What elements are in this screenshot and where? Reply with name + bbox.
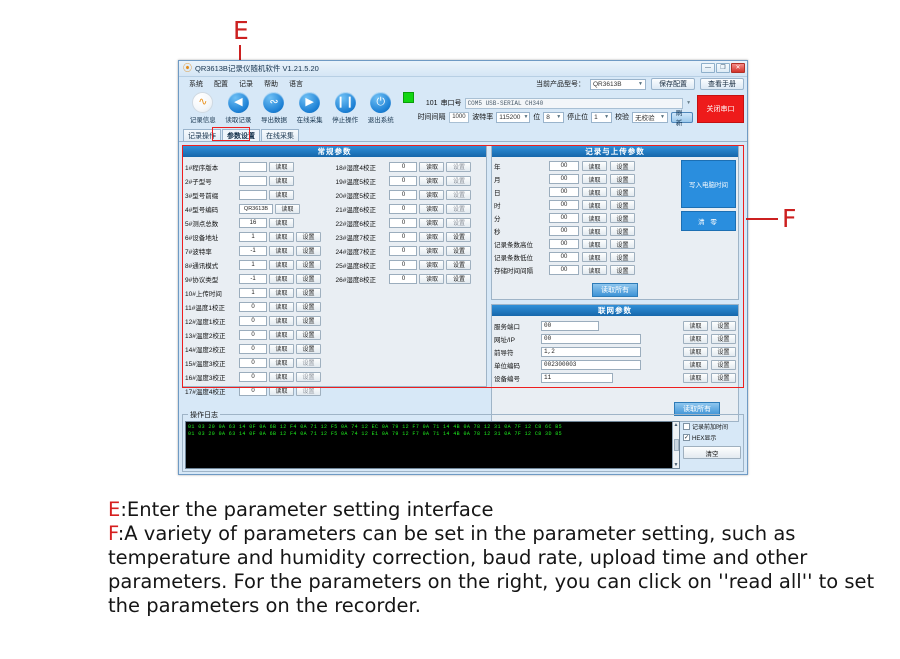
param-read-button[interactable]: 读取	[269, 176, 294, 186]
record-rows: 年 00 读取 设置 月 00 读取 设置	[494, 160, 678, 276]
window-title: QR3613B记录仪随机软件 V1.21.5.20	[195, 63, 319, 74]
menu-item-record[interactable]: 记录	[239, 79, 253, 89]
param-label: 21#温度6校正	[335, 204, 387, 214]
param-set-button[interactable]: 设置	[296, 344, 321, 354]
param-label: 3#型号前缀	[185, 190, 237, 200]
hex-display-checkbox[interactable]: ✓	[683, 434, 690, 441]
param-row: 21#温度6校正 0 读取 设置	[335, 202, 484, 215]
record-read-button[interactable]: 读取	[582, 174, 607, 184]
param-read-button[interactable]: 读取	[269, 288, 294, 298]
param-input[interactable]: 0	[239, 316, 267, 326]
tab-parameter-setting[interactable]: 参数设置	[222, 129, 260, 141]
param-label: 20#湿度5校正	[335, 190, 387, 200]
network-set-button[interactable]: 设置	[711, 373, 736, 383]
param-read-button[interactable]: 读取	[269, 302, 294, 312]
param-label: 18#湿度4校正	[335, 162, 387, 172]
record-row: 月 00 读取 设置	[494, 173, 678, 185]
window-controls: — ❐ ✕	[701, 63, 745, 73]
param-set-button[interactable]: 设置	[296, 316, 321, 326]
record-input[interactable]: 00	[549, 265, 579, 275]
param-row: 20#湿度5校正 0 读取 设置	[335, 188, 484, 201]
caption-line-e: E:Enter the parameter setting interface	[108, 498, 898, 522]
network-set-button[interactable]: 设置	[711, 334, 736, 344]
record-input[interactable]: 00	[549, 161, 579, 171]
record-read-button[interactable]: 读取	[582, 187, 607, 197]
product-model-value: QR3613B	[593, 81, 622, 88]
param-row: 22#湿度6校正 0 读取 设置	[335, 216, 484, 229]
param-set-button[interactable]: 设置	[446, 162, 471, 172]
record-row: 日 00 读取 设置	[494, 186, 678, 198]
record-row: 记录条数高位 00 读取 设置	[494, 238, 678, 250]
network-input[interactable]: 11	[541, 373, 613, 383]
param-row: 5#测点总数 16 读取 设置	[185, 216, 335, 229]
record-set-button[interactable]: 设置	[610, 213, 635, 223]
play-icon: ▶	[299, 92, 320, 113]
param-input[interactable]: 16	[239, 218, 267, 228]
general-column-right: 18#湿度4校正 0 读取 设置 19#温度5校正 0 读取 设置	[335, 160, 484, 397]
param-label: 6#设备地址	[185, 232, 237, 242]
param-input[interactable]: 0	[389, 176, 417, 186]
stopbit-label: 停止位	[567, 112, 588, 122]
record-input[interactable]: 00	[549, 213, 579, 223]
param-input[interactable]: QR3613B	[239, 204, 273, 214]
scrollbar-thumb[interactable]	[674, 439, 679, 451]
port-select[interactable]: COM5 USB-SERIAL CH340	[465, 98, 684, 109]
toolbar-label: 在线采集	[297, 114, 323, 124]
close-port-button[interactable]: 关闭串口	[697, 95, 744, 123]
record-row: 时 00 读取 设置	[494, 199, 678, 211]
param-set-button[interactable]: 设置	[446, 260, 471, 270]
log-scrollbar[interactable]: ▲ ▼	[672, 422, 679, 468]
parity-value: 无校验	[635, 112, 655, 122]
record-read-button[interactable]: 读取	[582, 226, 607, 236]
param-label: 17#温度4校正	[185, 386, 237, 396]
record-row: 记录条数低位 00 读取 设置	[494, 251, 678, 263]
write-pc-time-button[interactable]: 写入电脑时间	[681, 160, 736, 208]
param-input[interactable]: 0	[389, 218, 417, 228]
param-input[interactable]: 0	[389, 204, 417, 214]
record-set-button[interactable]: 设置	[610, 252, 635, 262]
operation-log-group: 操作日志 01 03 20 0A 63 14 0F 0A 6B 12 F4 0A…	[182, 414, 744, 472]
spiral-logo-icon: ⦿	[183, 64, 192, 73]
stopbit-select[interactable]: 1 ▼	[591, 112, 612, 123]
param-read-button[interactable]: 读取	[419, 176, 444, 186]
record-input[interactable]: 00	[549, 187, 579, 197]
record-label: 记录条数高位	[494, 239, 546, 249]
caption-text-f: :A variety of parameters can be set in t…	[108, 522, 874, 617]
network-parameters-panel: 联网参数 服务端口 00 读取 设置 网址/IP 00	[491, 304, 739, 422]
general-parameters-panel: 常规参数 1#程序版本 读取 设置 2#子型号	[182, 145, 487, 387]
param-row: 12#湿度1校正 0 读取 设置	[185, 314, 335, 327]
menu-item-config[interactable]: 配置	[214, 79, 228, 89]
record-row: 分 00 读取 设置	[494, 212, 678, 224]
param-label: 14#湿度2校正	[185, 344, 237, 354]
param-input[interactable]	[239, 162, 267, 172]
param-label: 25#温度8校正	[335, 260, 387, 270]
param-row: 2#子型号 读取 设置	[185, 174, 335, 187]
log-line: 01 03 20 0A 63 14 0F 0A 6B 12 F4 0A 71 1…	[188, 424, 678, 431]
bits-label: 位	[533, 112, 540, 122]
param-row: 7#波特率 -1 读取 设置	[185, 244, 335, 257]
toolbar: ∿ 记录信息 ◀ 读取记录 ∾ 导出数据 ▶ 在线采集 ❙❙ 停止操作 ⏻ 退出…	[179, 91, 747, 129]
log-console[interactable]: 01 03 20 0A 63 14 0F 0A 6B 12 F4 0A 71 1…	[185, 421, 680, 469]
param-set-button[interactable]: 设置	[296, 330, 321, 340]
record-upload-panel: 记录与上传参数 年 00 读取 设置 月 00	[491, 145, 739, 300]
param-label: 16#湿度3校正	[185, 372, 237, 382]
record-input[interactable]: 00	[549, 174, 579, 184]
timestamp-checkbox-label: 记录前加时间	[692, 422, 728, 431]
param-read-button[interactable]: 读取	[269, 190, 294, 200]
param-read-button[interactable]: 读取	[419, 232, 444, 242]
general-panel-title: 常规参数	[183, 146, 486, 157]
arrow-down-icon[interactable]: ▼	[674, 462, 679, 468]
record-input[interactable]: 00	[549, 239, 579, 249]
chevron-down-icon: ▼	[660, 114, 665, 120]
interval-input[interactable]: 1000	[449, 112, 470, 123]
param-row: 8#通讯模式 1 读取 设置	[185, 258, 335, 271]
network-panel-title: 联网参数	[492, 305, 738, 316]
hex-display-checkbox-label: HEX显示	[692, 433, 716, 442]
operation-log-title: 操作日志	[188, 410, 220, 420]
network-read-button[interactable]: 读取	[683, 321, 708, 331]
checkbox-row-hex[interactable]: ✓ HEX显示	[683, 433, 741, 442]
param-label: 4#型号编码	[185, 204, 237, 214]
param-read-button[interactable]: 读取	[419, 190, 444, 200]
param-read-button[interactable]: 读取	[419, 204, 444, 214]
param-set-button[interactable]: 设置	[446, 204, 471, 214]
record-row: 年 00 读取 设置	[494, 160, 678, 172]
toolbar-button-online-collect[interactable]: ▶ 在线采集	[292, 92, 328, 124]
param-set-button[interactable]: 设置	[296, 372, 321, 382]
network-read-button[interactable]: 读取	[683, 334, 708, 344]
annotation-marker-f: F	[782, 206, 796, 231]
record-read-button[interactable]: 读取	[582, 200, 607, 210]
right-panel-column: 记录与上传参数 年 00 读取 设置 月 00	[491, 145, 739, 387]
param-row: 14#湿度2校正 0 读取 设置	[185, 342, 335, 355]
arrow-up-icon[interactable]: ▲	[674, 422, 679, 428]
param-read-button[interactable]: 读取	[269, 218, 294, 228]
record-set-button[interactable]: 设置	[610, 200, 635, 210]
param-input[interactable]: 1	[239, 288, 267, 298]
record-set-button[interactable]: 设置	[610, 187, 635, 197]
param-read-button[interactable]: 读取	[269, 316, 294, 326]
record-row: 秒 00 读取 设置	[494, 225, 678, 237]
clear-log-button[interactable]: 清空	[683, 446, 741, 459]
param-row: 18#湿度4校正 0 读取 设置	[335, 160, 484, 173]
clear-zero-button[interactable]: 清 零	[681, 211, 736, 231]
general-column-left: 1#程序版本 读取 设置 2#子型号 读取 设置	[185, 160, 335, 397]
record-set-button[interactable]: 设置	[610, 265, 635, 275]
network-set-button[interactable]: 设置	[711, 360, 736, 370]
serial-row-baud: 时间间隔 1000 波特率 115200 ▼ 位 8 ▼ 停止位 1 ▼ 校验	[418, 110, 694, 124]
network-row: 前导符 1,2 读取 设置	[494, 345, 736, 358]
record-label: 月	[494, 174, 546, 184]
param-input[interactable]: 1	[239, 232, 267, 242]
product-model-label: 当前产品型号：	[536, 79, 585, 89]
panel-row: 常规参数 1#程序版本 读取 设置 2#子型号	[182, 145, 744, 387]
param-row: 24#湿度7校正 0 读取 设置	[335, 244, 484, 257]
serial-settings-group: 101 串口号 COM5 USB-SERIAL CH340 ▼ 时间间隔 100…	[418, 92, 694, 124]
record-label: 年	[494, 161, 546, 171]
param-read-button[interactable]: 读取	[269, 358, 294, 368]
param-input[interactable]: 0	[389, 260, 417, 270]
param-read-button[interactable]: 读取	[269, 274, 294, 284]
param-input[interactable]: 0	[239, 372, 267, 382]
parity-select[interactable]: 无校验 ▼	[632, 112, 668, 123]
param-label: 23#温度7校正	[335, 232, 387, 242]
toolbar-button-export-data[interactable]: ∾ 导出数据	[256, 92, 292, 124]
param-read-button[interactable]: 读取	[269, 372, 294, 382]
network-panel-body: 服务端口 00 读取 设置 网址/IP 00 读取 设置	[492, 316, 738, 421]
chevron-down-icon: ▼	[686, 100, 691, 106]
chevron-down-icon: ▼	[556, 114, 561, 120]
param-read-button[interactable]: 读取	[269, 386, 294, 396]
param-input[interactable]: 0	[239, 344, 267, 354]
param-read-button[interactable]: 读取	[419, 260, 444, 270]
param-input[interactable]: -1	[239, 274, 267, 284]
param-label: 8#通讯模式	[185, 260, 237, 270]
network-input[interactable]: 00	[541, 321, 599, 331]
close-button[interactable]: ✕	[731, 63, 745, 73]
param-label: 5#测点总数	[185, 218, 237, 228]
port-label: 串口号	[441, 98, 462, 108]
network-input[interactable]: 002300003	[541, 360, 641, 370]
toolbar-button-read-records[interactable]: ◀ 读取记录	[221, 92, 257, 124]
param-input[interactable]: 0	[239, 358, 267, 368]
network-read-button[interactable]: 读取	[683, 360, 708, 370]
record-read-button[interactable]: 读取	[582, 239, 607, 249]
param-row: 26#湿度8校正 0 读取 设置	[335, 272, 484, 285]
param-label: 15#温度3校正	[185, 358, 237, 368]
param-input[interactable]: 1	[239, 260, 267, 270]
network-readall-wrap: 读取所有	[494, 384, 736, 418]
param-label: 10#上传时间	[185, 288, 237, 298]
param-read-button[interactable]: 读取	[275, 204, 300, 214]
power-icon: ⏻	[370, 92, 391, 113]
param-read-button[interactable]: 读取	[419, 162, 444, 172]
param-read-button[interactable]: 读取	[269, 162, 294, 172]
toolbar-button-record-info[interactable]: ∿ 记录信息	[185, 92, 221, 124]
network-row: 网址/IP 00 读取 设置	[494, 332, 736, 345]
record-read-button[interactable]: 读取	[582, 213, 607, 223]
param-set-button[interactable]: 设置	[296, 358, 321, 368]
param-input[interactable]: 0	[389, 190, 417, 200]
param-read-button[interactable]: 读取	[269, 246, 294, 256]
baud-label: 波特率	[472, 112, 493, 122]
param-read-button[interactable]: 读取	[269, 330, 294, 340]
record-set-button[interactable]: 设置	[610, 174, 635, 184]
param-read-button[interactable]: 读取	[269, 344, 294, 354]
annotation-leader-line-f	[746, 218, 778, 220]
param-input[interactable]: 0	[239, 330, 267, 340]
record-panel-body: 年 00 读取 设置 月 00 读取 设置	[492, 157, 738, 279]
param-set-button[interactable]: 设置	[446, 218, 471, 228]
param-label: 24#湿度7校正	[335, 246, 387, 256]
share-arrow-icon: ◀	[228, 92, 249, 113]
param-row: 10#上传时间 1 读取 设置	[185, 286, 335, 299]
caption-key-f: F	[108, 522, 118, 545]
bits-value: 8	[546, 114, 550, 121]
network-input[interactable]: 1,2	[541, 347, 641, 357]
log-line: 01 03 20 0A 63 14 0F 0A 6B 12 F4 0A 71 1…	[188, 431, 678, 438]
param-input[interactable]	[239, 190, 267, 200]
param-set-button[interactable]: 设置	[446, 246, 471, 256]
baud-select[interactable]: 115200 ▼	[496, 112, 530, 123]
param-set-button[interactable]: 设置	[446, 176, 471, 186]
param-label: 7#波特率	[185, 246, 237, 256]
param-set-button[interactable]: 设置	[296, 288, 321, 298]
header-right-group: 当前产品型号： QR3613B ▼ 保存配置 查看手册	[536, 78, 744, 90]
interval-count: 101	[418, 100, 438, 107]
network-read-button[interactable]: 读取	[683, 347, 708, 357]
param-row: 9#协议类型 -1 读取 设置	[185, 272, 335, 285]
chevron-down-icon: ▼	[638, 81, 643, 87]
param-row: 16#湿度3校正 0 读取 设置	[185, 370, 335, 383]
record-set-button[interactable]: 设置	[610, 226, 635, 236]
param-read-button[interactable]: 读取	[269, 260, 294, 270]
network-set-button[interactable]: 设置	[711, 347, 736, 357]
param-set-button[interactable]: 设置	[296, 302, 321, 312]
baud-value: 115200	[499, 114, 520, 121]
view-manual-button[interactable]: 查看手册	[700, 78, 744, 90]
param-read-button[interactable]: 读取	[419, 246, 444, 256]
record-label: 时	[494, 200, 546, 210]
param-row: 11#温度1校正 0 读取 设置	[185, 300, 335, 313]
param-input[interactable]: 0	[239, 302, 267, 312]
param-label: 26#湿度8校正	[335, 274, 387, 284]
record-side-buttons: 写入电脑时间 清 零	[678, 160, 736, 276]
caption-key-e: E	[108, 498, 120, 521]
maximize-button[interactable]: ❐	[716, 63, 730, 73]
param-label: 12#湿度1校正	[185, 316, 237, 326]
network-row: 设备编号 11 读取 设置	[494, 371, 736, 384]
record-read-button[interactable]: 读取	[582, 161, 607, 171]
param-label: 11#温度1校正	[185, 302, 237, 312]
param-label: 2#子型号	[185, 176, 237, 186]
param-label: 19#温度5校正	[335, 176, 387, 186]
param-label: 13#温度2校正	[185, 330, 237, 340]
param-input[interactable]: 0	[239, 386, 267, 396]
param-input[interactable]: 0	[389, 162, 417, 172]
port-value: COM5 USB-SERIAL CH340	[468, 100, 544, 107]
param-row: 19#温度5校正 0 读取 设置	[335, 174, 484, 187]
param-row: 3#型号前缀 读取 设置	[185, 188, 335, 201]
chevron-down-icon: ▼	[604, 114, 609, 120]
param-set-button[interactable]: 设置	[296, 232, 321, 242]
param-row: 13#温度2校正 0 读取 设置	[185, 328, 335, 341]
record-set-button[interactable]: 设置	[610, 239, 635, 249]
param-row: 23#温度7校正 0 读取 设置	[335, 230, 484, 243]
general-panel-body: 1#程序版本 读取 设置 2#子型号 读取 设置	[183, 157, 486, 400]
param-input[interactable]	[239, 176, 267, 186]
network-row: 单位编码 002300003 读取 设置	[494, 358, 736, 371]
checkbox-row-timestamp[interactable]: 记录前加时间	[683, 422, 741, 431]
record-label: 记录条数低位	[494, 252, 546, 262]
param-input[interactable]: 0	[389, 246, 417, 256]
parity-label: 校验	[615, 112, 629, 122]
menu-item-help[interactable]: 帮助	[264, 79, 278, 89]
param-label: 22#湿度6校正	[335, 218, 387, 228]
record-label: 分	[494, 213, 546, 223]
param-row: 25#温度8校正 0 读取 设置	[335, 258, 484, 271]
param-input[interactable]: -1	[239, 246, 267, 256]
serial-row-port: 101 串口号 COM5 USB-SERIAL CH340 ▼	[418, 96, 694, 110]
refresh-button[interactable]: 刷新	[671, 112, 693, 123]
record-set-button[interactable]: 设置	[610, 161, 635, 171]
param-set-button[interactable]: 设置	[446, 274, 471, 284]
network-set-button[interactable]: 设置	[711, 321, 736, 331]
record-read-button[interactable]: 读取	[582, 252, 607, 262]
menu-item-language[interactable]: 语言	[289, 79, 303, 89]
param-set-button[interactable]: 设置	[446, 232, 471, 242]
network-row: 服务端口 00 读取 设置	[494, 319, 736, 332]
param-input[interactable]: 0	[389, 274, 417, 284]
caption-text-e: :Enter the parameter setting interface	[120, 498, 493, 521]
record-input[interactable]: 00	[549, 226, 579, 236]
param-set-button[interactable]: 设置	[296, 260, 321, 270]
network-label: 设备编号	[494, 373, 538, 383]
toolbar-button-exit[interactable]: ⏻ 退出系统	[363, 92, 399, 124]
param-read-button[interactable]: 读取	[269, 232, 294, 242]
connection-status-led	[403, 92, 414, 103]
title-bar: ⦿ QR3613B记录仪随机软件 V1.21.5.20 — ❐ ✕	[179, 61, 747, 77]
param-row: 15#温度3校正 0 读取 设置	[185, 356, 335, 369]
param-input[interactable]: 0	[389, 232, 417, 242]
caption-line-f: F:A variety of parameters can be set in …	[108, 522, 898, 618]
wave-record-icon: ∿	[192, 92, 213, 113]
record-row: 存储时间间隔 00 读取 设置	[494, 264, 678, 276]
network-label: 服务端口	[494, 321, 538, 331]
param-read-button[interactable]: 读取	[419, 274, 444, 284]
tab-strip: 记录操作 参数设置 在线采集	[179, 129, 747, 142]
product-model-select[interactable]: QR3613B ▼	[590, 79, 646, 90]
save-config-button[interactable]: 保存配置	[651, 78, 695, 90]
network-read-button[interactable]: 读取	[683, 373, 708, 383]
annotation-marker-e: E	[233, 18, 249, 43]
param-label: 9#协议类型	[185, 274, 237, 284]
application-window: ⦿ QR3613B记录仪随机软件 V1.21.5.20 — ❐ ✕ 系统 配置 …	[178, 60, 748, 475]
param-set-button[interactable]: 设置	[296, 386, 321, 396]
param-row: 1#程序版本 读取 设置	[185, 160, 335, 173]
record-input[interactable]: 00	[549, 200, 579, 210]
menu-bar: 系统 配置 记录 帮助 语言 当前产品型号： QR3613B ▼ 保存配置 查看…	[179, 77, 747, 91]
param-read-button[interactable]: 读取	[419, 218, 444, 228]
param-row: 17#温度4校正 0 读取 设置	[185, 384, 335, 397]
menu-item-system[interactable]: 系统	[189, 79, 203, 89]
tab-record-operation[interactable]: 记录操作	[183, 129, 221, 141]
record-panel-title: 记录与上传参数	[492, 146, 738, 157]
record-read-all-button[interactable]: 读取所有	[592, 283, 638, 297]
network-label: 前导符	[494, 347, 538, 357]
minimize-button[interactable]: —	[701, 63, 715, 73]
waveform-icon: ∾	[263, 92, 284, 113]
record-input[interactable]: 00	[549, 252, 579, 262]
param-set-button[interactable]: 设置	[296, 246, 321, 256]
chevron-down-icon: ▼	[523, 114, 528, 120]
param-set-button[interactable]: 设置	[446, 190, 471, 200]
toolbar-label: 读取记录	[225, 114, 251, 124]
databits-select[interactable]: 8 ▼	[543, 112, 564, 123]
record-label: 存储时间间隔	[494, 265, 546, 275]
param-set-button[interactable]: 设置	[296, 274, 321, 284]
record-read-button[interactable]: 读取	[582, 265, 607, 275]
toolbar-button-stop[interactable]: ❙❙ 停止操作	[327, 92, 363, 124]
network-input[interactable]: 00	[541, 334, 641, 344]
timestamp-checkbox[interactable]	[683, 423, 690, 430]
network-label: 单位编码	[494, 360, 538, 370]
interval-label: 时间间隔	[418, 112, 446, 122]
tab-online-collect[interactable]: 在线采集	[261, 129, 299, 141]
